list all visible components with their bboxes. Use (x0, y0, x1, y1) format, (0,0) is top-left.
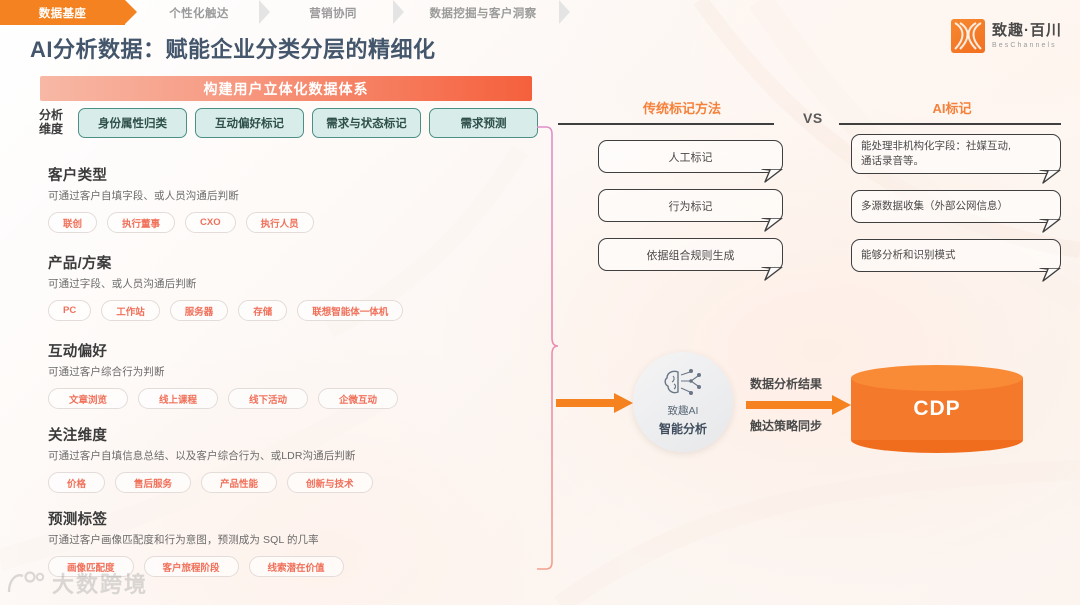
section-title: 互动偏好 (48, 340, 518, 361)
bubble-text: 依据组合规则生成 (647, 247, 735, 263)
section-tag-list: 价格 售后服务 产品性能 创新与技术 (48, 472, 518, 493)
dimension-chip-0[interactable]: 身份属性归类 (78, 108, 187, 138)
tag-item[interactable]: 存储 (238, 300, 287, 321)
watermark: 大数跨境 (6, 567, 148, 599)
traditional-bubble-2[interactable]: 依据组合规则生成 (598, 238, 783, 271)
nav-step-2[interactable]: 营销协同 (273, 0, 393, 25)
bubble-tail-icon (761, 267, 783, 281)
dimension-row: 分析 维度 身份属性归类 互动偏好标记 需求与状态标记 需求预测 (32, 108, 538, 138)
ai-bubble-2[interactable]: 能够分析和识别模式 (851, 239, 1061, 272)
comparison-rule-right (839, 123, 1061, 125)
bubble-text: 能处理非机构化字段：社媒互动, 通话录音等。 (861, 139, 1011, 169)
tag-item[interactable]: 执行董事 (107, 212, 175, 233)
category-section-interaction-preference: 互动偏好 可通过客户综合行为判断 文章浏览 线上课程 线下活动 企微互动 (48, 340, 518, 409)
comparison-heading-ai: AI标记 (862, 98, 1042, 117)
arrow-to-cdp-icon (746, 394, 852, 416)
bubble-text: 能够分析和识别模式 (861, 248, 956, 263)
section-subtitle: 可通过客户综合行为判断 (48, 364, 518, 379)
section-title: 关注维度 (48, 424, 518, 445)
watermark-logo-icon (6, 570, 46, 596)
bubble-tail-icon (1039, 268, 1061, 282)
nav-step-label: 营销协同 (309, 5, 357, 21)
section-subtitle: 可通过客户画像匹配度和行为意图，预测成为 SQL 的几率 (48, 532, 518, 547)
tag-item[interactable]: 线下活动 (228, 388, 308, 409)
tag-item[interactable]: 客户旅程阶段 (144, 556, 239, 577)
tag-item[interactable]: 服务器 (170, 300, 229, 321)
tag-item[interactable]: 联想智能体一体机 (297, 300, 403, 321)
traditional-bubble-0[interactable]: 人工标记 (598, 140, 783, 173)
tag-item[interactable]: 创新与技术 (287, 472, 373, 493)
bubble-tail-icon (761, 169, 783, 183)
tag-item[interactable]: 产品性能 (201, 472, 277, 493)
cdp-label: CDP (851, 365, 1023, 453)
comparison-heading-traditional: 传统标记方法 (592, 98, 772, 117)
section-subtitle: 可通过客户自填信息总结、以及客户综合行为、或LDR沟通后判断 (48, 448, 518, 463)
ai-node-line1: 致趣AI (668, 403, 699, 418)
brand-logo: 致趣·百川 BesChannels (951, 19, 1062, 53)
tag-item[interactable]: 联创 (48, 212, 97, 233)
bubble-text: 行为标记 (669, 198, 713, 214)
logo-text-cn: 致趣·百川 (992, 23, 1062, 38)
bubble-tail-icon (1039, 170, 1061, 184)
tag-item[interactable]: 售后服务 (115, 472, 191, 493)
brain-ai-icon (662, 367, 704, 399)
traditional-bubble-1[interactable]: 行为标记 (598, 189, 783, 222)
tag-item[interactable]: 线索潜在价值 (249, 556, 344, 577)
nav-step-label: 个性化触达 (169, 5, 229, 21)
tag-item[interactable]: 线上课程 (138, 388, 218, 409)
bubble-tail-icon (1039, 219, 1061, 233)
logo-mark-icon (951, 19, 985, 53)
category-section-focus-dimension: 关注维度 可通过客户自填信息总结、以及客户综合行为、或LDR沟通后判断 价格 售… (48, 424, 518, 493)
arrow-into-ai-icon (556, 392, 634, 414)
section-tag-list: 文章浏览 线上课程 线下活动 企微互动 (48, 388, 518, 409)
section-tag-list: 联创 执行董事 CXO 执行人员 (48, 212, 518, 233)
comparison-rule-left (558, 123, 774, 125)
nav-step-3[interactable]: 数据挖掘与客户洞察 (407, 0, 559, 25)
nav-step-label: 数据基座 (39, 5, 87, 21)
top-step-nav: 数据基座 个性化触达 营销协同 数据挖掘与客户洞察 (0, 0, 1080, 25)
page-title: AI分析数据：赋能企业分类分层的精细化 (30, 32, 436, 64)
ai-analysis-node[interactable]: 致趣AI 智能分析 (633, 352, 733, 452)
dimension-chip-3[interactable]: 需求预测 (429, 108, 538, 138)
vs-label: VS (803, 110, 823, 126)
dimension-label-line2: 维度 (32, 123, 70, 137)
logo-glyph-icon (951, 19, 985, 53)
dimension-label: 分析 维度 (32, 109, 70, 137)
category-section-product-solution: 产品/方案 可通过字段、或人员沟通后判断 PC 工作站 服务器 存储 联想智能体… (48, 252, 518, 321)
tag-item[interactable]: 价格 (48, 472, 105, 493)
dimension-label-line1: 分析 (32, 109, 70, 123)
bubble-tail-icon (761, 218, 783, 232)
ai-bubble-1[interactable]: 多源数据收集（外部公网信息） (851, 190, 1061, 223)
nav-step-0[interactable]: 数据基座 (0, 0, 125, 25)
tag-item[interactable]: 执行人员 (246, 212, 314, 233)
section-subtitle: 可通过客户自填字段、或人员沟通后判断 (48, 188, 518, 203)
nav-step-label: 数据挖掘与客户洞察 (429, 5, 536, 21)
section-tag-list: PC 工作站 服务器 存储 联想智能体一体机 (48, 300, 518, 321)
tag-item[interactable]: CXO (185, 212, 236, 233)
flow-label-bottom: 触达策略同步 (750, 417, 822, 434)
tag-item[interactable]: 工作站 (101, 300, 160, 321)
cdp-cylinder[interactable]: CDP (851, 365, 1023, 453)
dimension-chip-1[interactable]: 互动偏好标记 (195, 108, 304, 138)
tag-item[interactable]: PC (48, 300, 91, 321)
bubble-text: 多源数据收集（外部公网信息） (861, 199, 1008, 214)
section-title: 客户类型 (48, 164, 518, 185)
tag-item[interactable]: 文章浏览 (48, 388, 128, 409)
brace-connector (536, 126, 572, 576)
nav-step-1[interactable]: 个性化触达 (139, 0, 259, 25)
category-section-customer-type: 客户类型 可通过客户自填字段、或人员沟通后判断 联创 执行董事 CXO 执行人员 (48, 164, 518, 233)
tag-item[interactable]: 企微互动 (318, 388, 398, 409)
ai-node-line2: 智能分析 (659, 420, 707, 437)
bubble-text: 人工标记 (669, 149, 713, 165)
flow-label-top: 数据分析结果 (750, 375, 822, 392)
section-subtitle: 可通过字段、或人员沟通后判断 (48, 276, 518, 291)
section-title: 产品/方案 (48, 252, 518, 273)
dimension-chip-2[interactable]: 需求与状态标记 (312, 108, 421, 138)
section-title: 预测标签 (48, 508, 518, 529)
logo-text-en: BesChannels (992, 42, 1062, 49)
left-panel-banner: 构建用户立体化数据体系 (40, 76, 532, 101)
ai-bubble-0[interactable]: 能处理非机构化字段：社媒互动, 通话录音等。 (851, 134, 1061, 174)
watermark-text: 大数跨境 (52, 567, 148, 599)
